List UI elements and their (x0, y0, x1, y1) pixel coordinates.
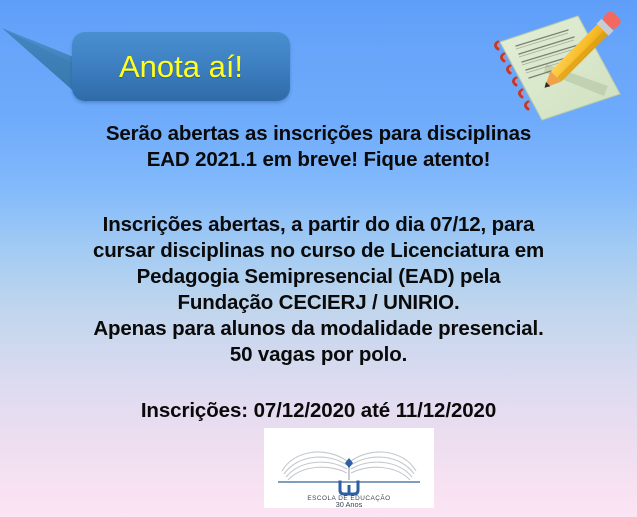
callout-text: Anota aí! (119, 51, 243, 82)
institution-logo: ESCOLA DE EDUCAÇÃO 30 Anos (264, 428, 434, 508)
intro-line-1: Serão abertas as inscrições para discipl… (0, 121, 637, 147)
details-line-3: Pedagogia Semipresencial (EAD) pela (0, 264, 637, 290)
details-line-4: Fundação CECIERJ / UNIRIO. (0, 290, 637, 316)
logo-subtitle: 30 Anos (336, 500, 363, 508)
callout-bubble-body: Anota aí! (72, 32, 290, 101)
notepad-with-pencil-icon (486, 2, 636, 124)
poster-canvas: Anota aí! (0, 0, 637, 517)
spacer-2 (0, 368, 637, 398)
callout-bubble: Anota aí! (0, 22, 300, 112)
announcement-copy: Serão abertas as inscrições para discipl… (0, 121, 637, 424)
details-line-1: Inscrições abertas, a partir do dia 07/1… (0, 212, 637, 238)
open-book-logo-icon: ESCOLA DE EDUCAÇÃO 30 Anos (264, 428, 434, 508)
intro-paragraph: Serão abertas as inscrições para discipl… (0, 121, 637, 173)
details-line-5: Apenas para alunos da modalidade presenc… (0, 316, 637, 342)
spacer-1 (0, 173, 637, 212)
details-line-6: 50 vagas por polo. (0, 342, 637, 368)
details-line-2: cursar disciplinas no curso de Licenciat… (0, 238, 637, 264)
details-paragraph: Inscrições abertas, a partir do dia 07/1… (0, 212, 637, 368)
intro-line-2: EAD 2021.1 em breve! Fique atento! (0, 147, 637, 173)
enrollment-dates: Inscrições: 07/12/2020 até 11/12/2020 (0, 398, 637, 424)
